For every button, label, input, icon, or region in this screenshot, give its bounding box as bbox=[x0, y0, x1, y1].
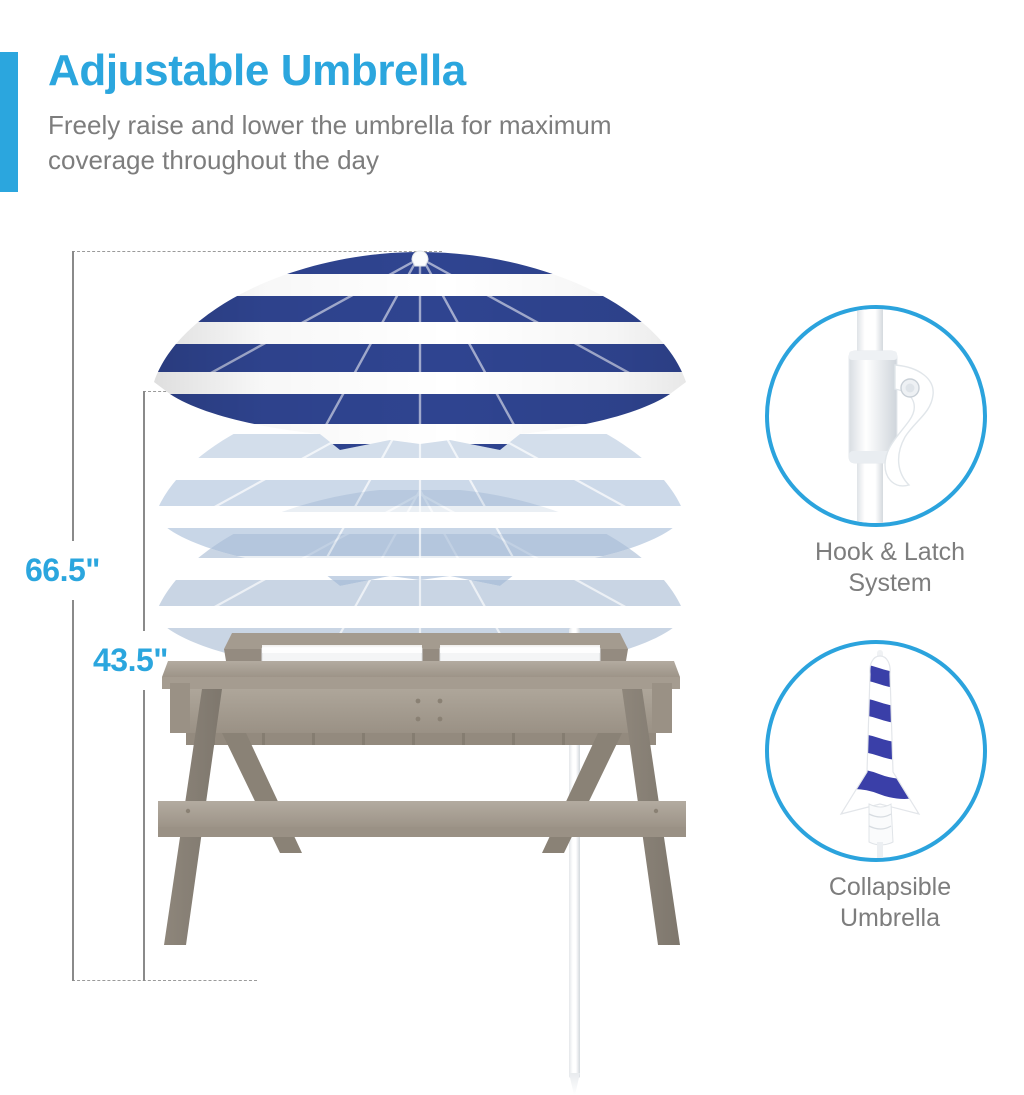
page-subtitle: Freely raise and lower the umbrella for … bbox=[48, 108, 688, 178]
umbrella-canopy-icon bbox=[140, 244, 700, 474]
callout-collapsible-label: Collapsible Umbrella bbox=[765, 872, 1015, 933]
callout-label-line1: Hook & Latch bbox=[765, 537, 1015, 568]
callout-ring bbox=[765, 305, 987, 527]
umbrella-pole-tip-icon bbox=[569, 1073, 580, 1095]
striped-patio-umbrella-icon bbox=[140, 230, 700, 650]
infographic-canvas: Adjustable Umbrella Freely raise and low… bbox=[0, 0, 1024, 1024]
page-title: Adjustable Umbrella bbox=[48, 46, 466, 96]
accent-bar bbox=[0, 52, 18, 192]
dimension-line-overall-upper bbox=[72, 251, 74, 541]
folded-umbrella-icon bbox=[769, 644, 987, 862]
callout-label-line1: Collapsible bbox=[765, 872, 1015, 903]
callout-label-line2: Umbrella bbox=[765, 903, 1015, 934]
callout-ring bbox=[765, 640, 987, 862]
dimension-line-table-lower bbox=[143, 690, 145, 981]
leader-line-bottom bbox=[72, 980, 257, 981]
wood-picnic-table-icon bbox=[150, 615, 695, 960]
dimension-line-overall-lower bbox=[72, 600, 74, 981]
callout-label-line2: System bbox=[765, 568, 1015, 599]
dimension-label-overall: 66.5" bbox=[20, 552, 105, 589]
header: Adjustable Umbrella Freely raise and low… bbox=[0, 52, 700, 202]
umbrella-latch-icon bbox=[769, 309, 987, 527]
callout-hook-latch-label: Hook & Latch System bbox=[765, 537, 1015, 598]
